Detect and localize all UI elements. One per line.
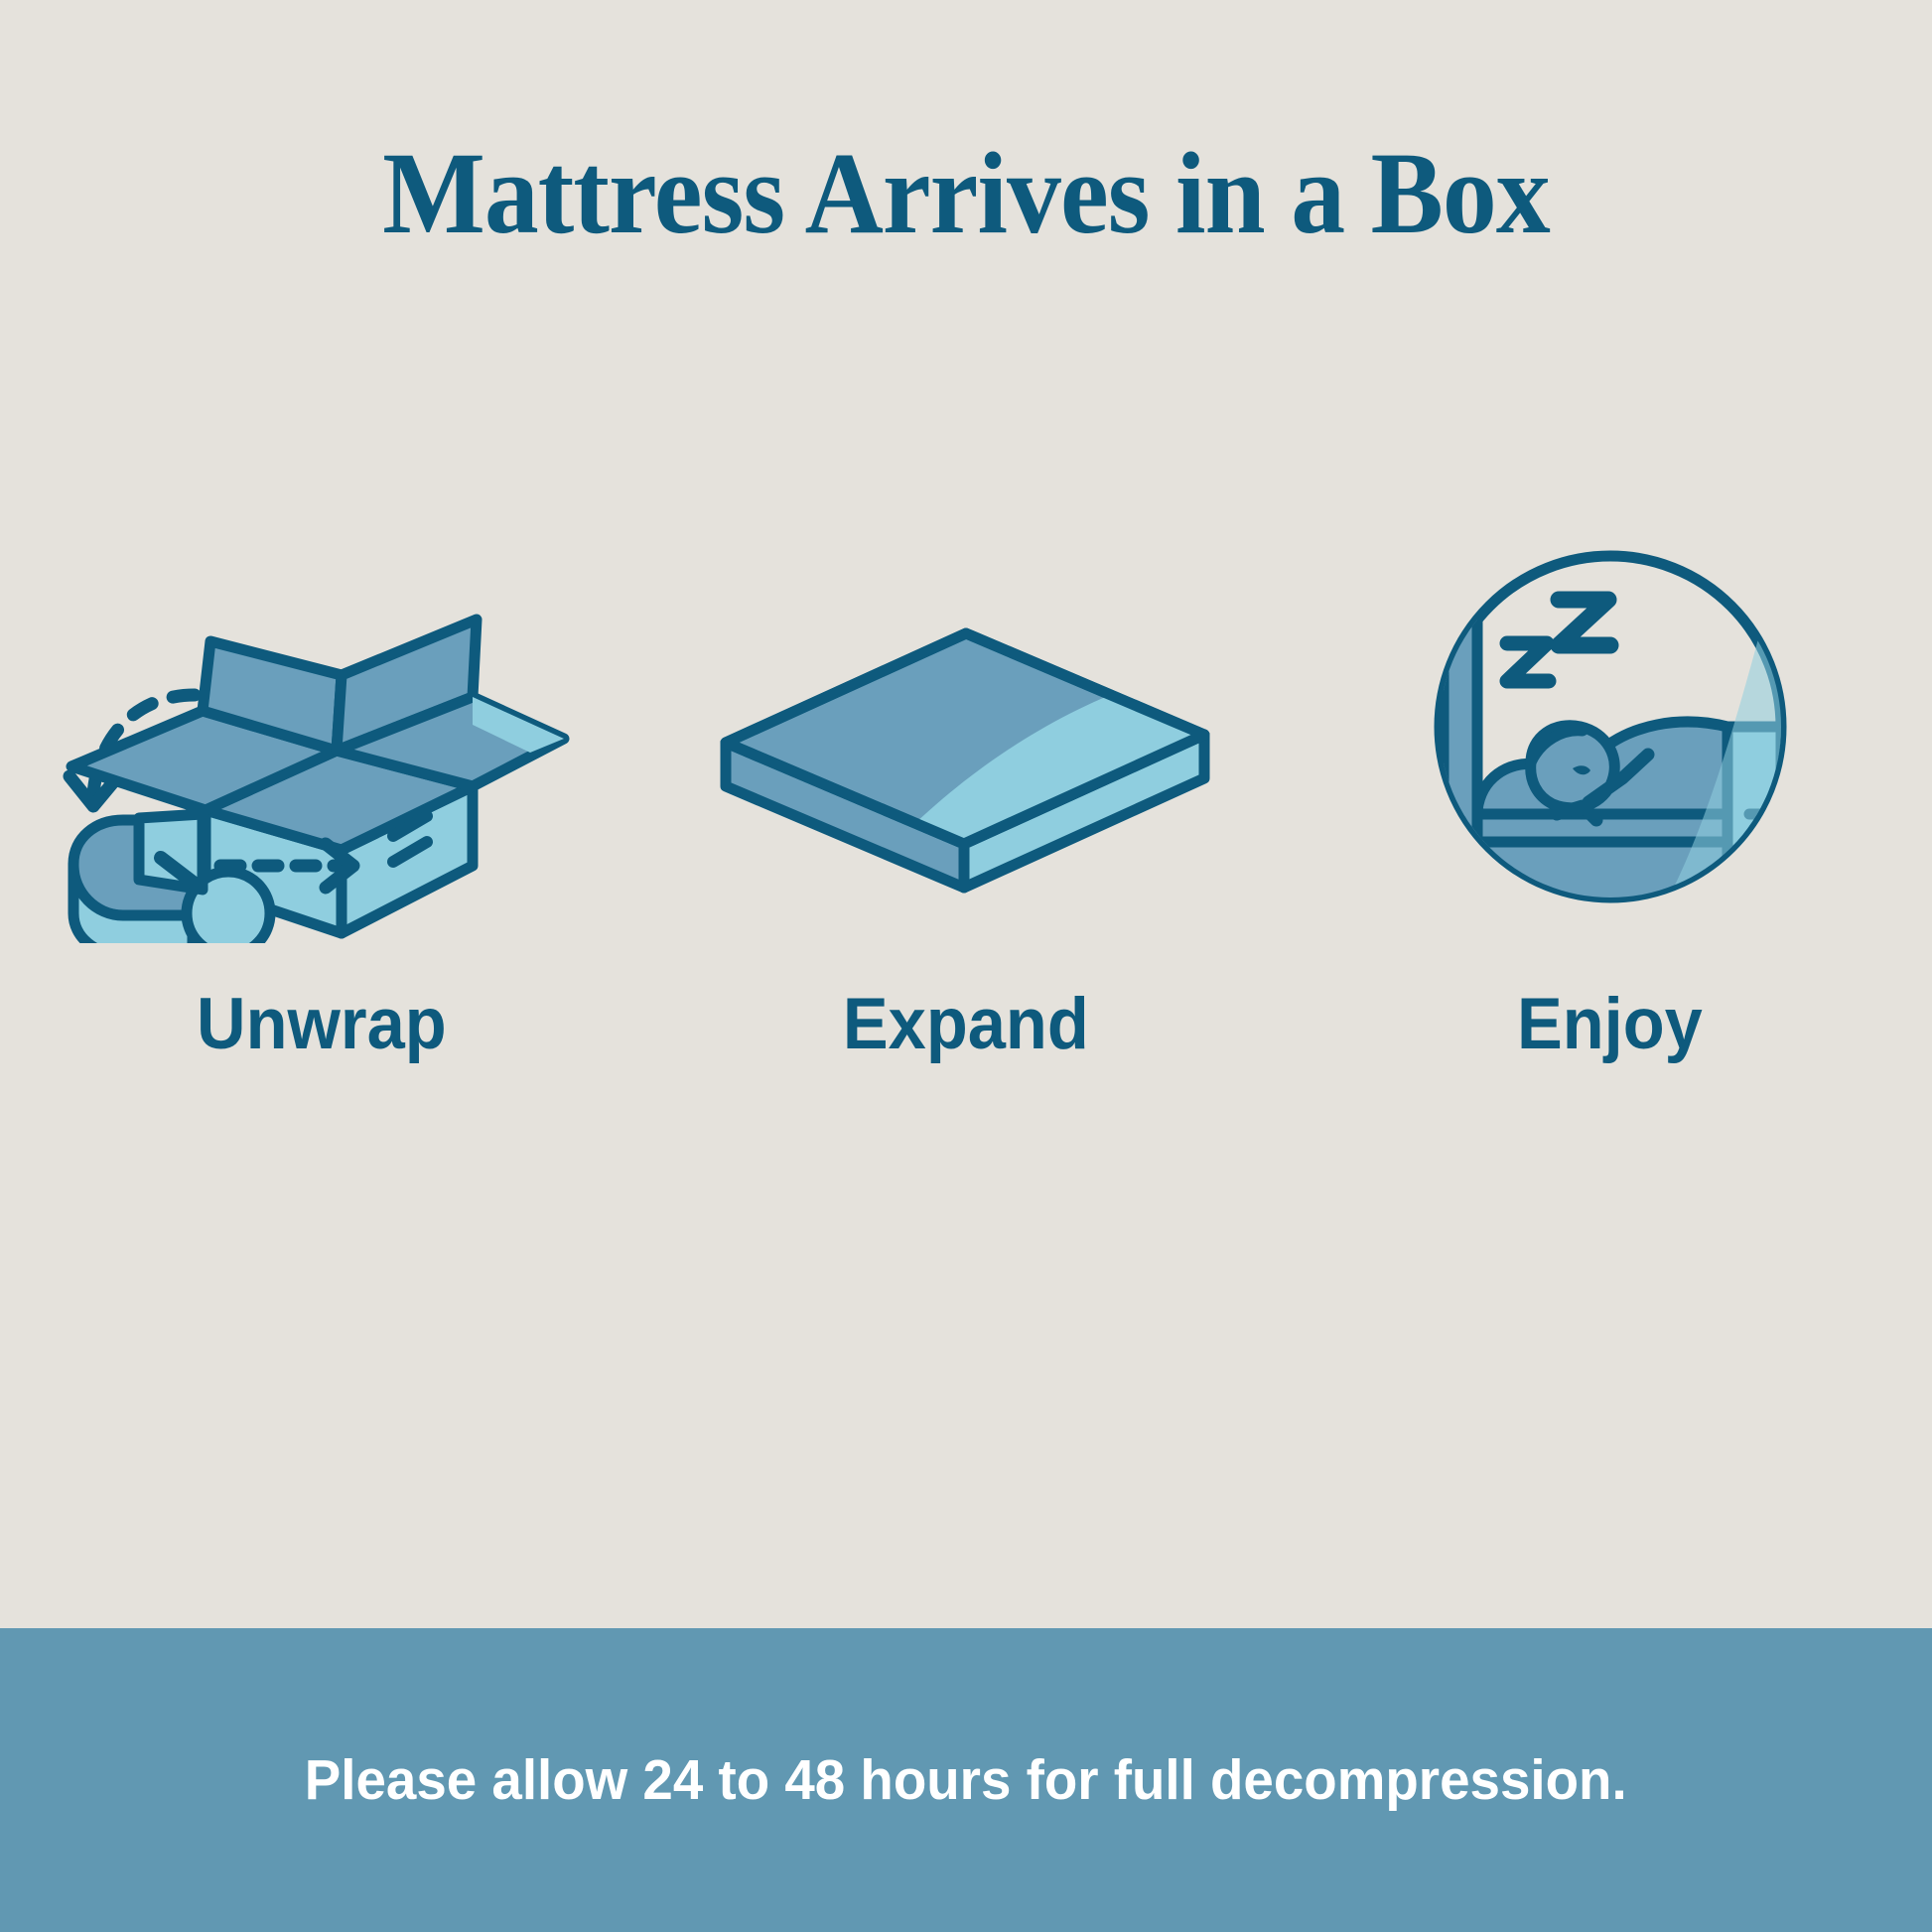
footer-banner: Please allow 24 to 48 hours for full dec… xyxy=(0,1628,1932,1932)
flat-mattress-icon xyxy=(688,516,1244,943)
bed-far-panel xyxy=(1781,731,1829,913)
step-label-expand: Expand xyxy=(843,983,1089,1065)
step-enjoy: Enjoy xyxy=(1303,516,1918,1065)
steps-row: Unwrap xyxy=(0,516,1932,1092)
step-label-enjoy: Enjoy xyxy=(1517,983,1703,1065)
step-unwrap: Unwrap xyxy=(14,516,629,1065)
step-label-unwrap: Unwrap xyxy=(197,983,447,1065)
open-box-with-rolled-mattress-icon xyxy=(44,516,600,943)
person-sleeping-in-bed-icon xyxy=(1332,516,1888,943)
sleep-z-large-icon xyxy=(1559,600,1610,645)
decompression-note: Please allow 24 to 48 hours for full dec… xyxy=(305,1747,1627,1813)
infographic-page: Mattress Arrives in a Box xyxy=(0,0,1932,1932)
page-title: Mattress Arrives in a Box xyxy=(68,135,1864,252)
sleep-z-small-icon xyxy=(1507,643,1549,681)
step-expand: Expand xyxy=(658,516,1274,1065)
